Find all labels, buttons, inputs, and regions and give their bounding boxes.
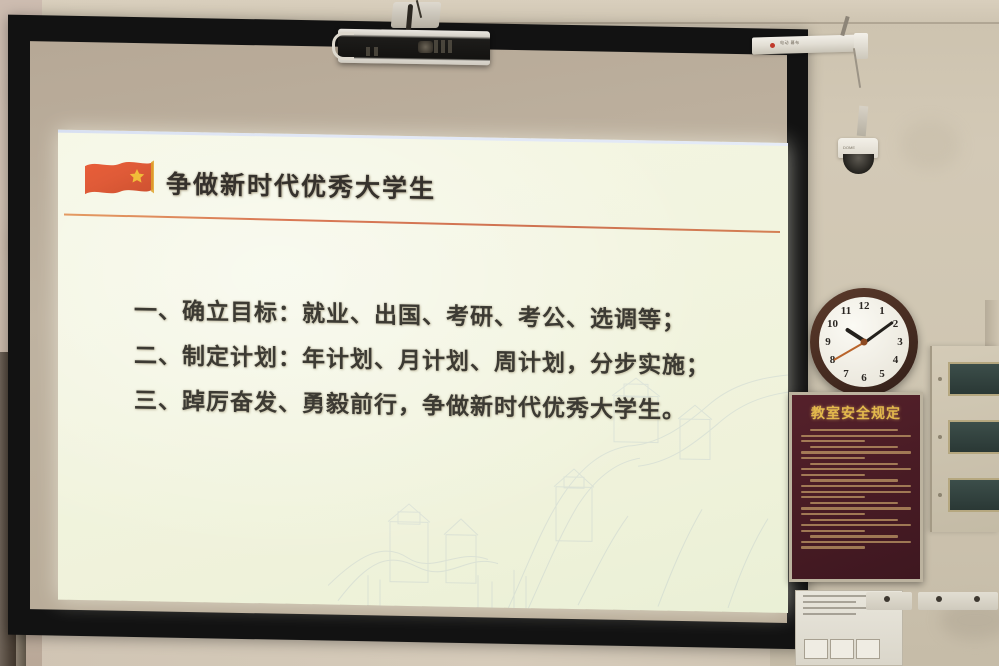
screen-roller-label: 电动 幕布 <box>780 40 800 46</box>
clock-numeral: 7 <box>839 368 853 380</box>
panel-window <box>948 478 999 512</box>
panel-screw <box>938 435 942 439</box>
notice-cell <box>856 639 880 659</box>
poster-body-lines <box>792 429 920 549</box>
classroom-safety-poster: 教室安全规定 <box>789 392 923 582</box>
clock-numeral: 1 <box>875 305 889 317</box>
projector-vent <box>434 40 438 53</box>
classroom-scene: 争做新时代优秀大学生 一、确立目标：就业、出国、考研、考公、选调等； 二、制定计… <box>0 0 999 666</box>
slide-body-list: 一、确立目标：就业、出国、考研、考公、选调等； 二、制定计划：年计划、月计划、周… <box>134 299 774 446</box>
party-flag-icon <box>82 158 156 205</box>
clock-center-pin <box>861 339 868 346</box>
wall-bracket-screw <box>936 596 942 602</box>
notice-cell <box>804 639 828 659</box>
wall-distribution-panel[interactable] <box>930 346 999 532</box>
notice-cell <box>830 639 854 659</box>
clock-numeral: 11 <box>839 305 853 317</box>
clock-numeral: 12 <box>857 300 871 312</box>
clock-numeral: 3 <box>893 336 907 348</box>
projector-vent <box>448 40 452 53</box>
clock-numeral: 5 <box>875 368 889 380</box>
slide-title-divider <box>64 214 780 233</box>
slide-title-row: 争做新时代优秀大学生 <box>82 158 436 210</box>
projector-lens-icon <box>418 41 433 53</box>
projector-power-cable <box>332 32 354 60</box>
panel-window <box>948 362 999 396</box>
notice-grid <box>804 639 880 659</box>
slide-body-line: 三、踔厉奋发、勇毅前行，争做新时代优秀大学生。 <box>134 389 774 424</box>
wall-bracket-screw <box>974 596 980 602</box>
wall-bracket-screw <box>884 596 890 602</box>
projection-screen-surface: 争做新时代优秀大学生 一、确立目标：就业、出国、考研、考公、选调等； 二、制定计… <box>30 41 787 623</box>
screen-roller-indicator <box>770 43 775 48</box>
screen-roller-icon <box>752 34 862 54</box>
projected-slide: 争做新时代优秀大学生 一、确立目标：就业、出国、考研、考公、选调等； 二、制定计… <box>58 130 788 613</box>
panel-screw <box>938 377 942 381</box>
projector-mount <box>391 2 442 28</box>
wall-clock-icon: 12 1 2 3 4 5 6 7 8 9 10 11 <box>810 288 918 396</box>
clock-minute-hand <box>865 321 894 343</box>
projector-vent <box>366 47 370 56</box>
poster-title: 教室安全规定 <box>792 403 920 423</box>
projection-screen-frame: 争做新时代优秀大学生 一、确立目标：就业、出国、考研、考公、选调等； 二、制定计… <box>8 15 808 650</box>
ceiling-projector-icon <box>338 29 490 66</box>
slide-top-edge <box>58 130 788 146</box>
clock-numeral: 4 <box>889 354 903 366</box>
panel-screw <box>938 493 942 497</box>
clock-face: 12 1 2 3 4 5 6 7 8 9 10 11 <box>819 297 909 387</box>
slide-body-line: 二、制定计划：年计划、月计划、周计划，分步实施； <box>134 344 774 379</box>
slide-title: 争做新时代优秀大学生 <box>166 165 436 206</box>
clock-numeral: 10 <box>826 318 840 330</box>
projector-vent <box>374 47 378 56</box>
panel-window <box>948 420 999 454</box>
projector-vent <box>441 40 445 53</box>
clock-numeral: 9 <box>821 336 835 348</box>
clock-numeral: 6 <box>857 372 871 384</box>
slide-body-line: 一、确立目标：就业、出国、考研、考公、选调等； <box>134 299 774 334</box>
wall-texture-blotch <box>900 120 960 170</box>
camera-label: DOME <box>843 145 855 150</box>
